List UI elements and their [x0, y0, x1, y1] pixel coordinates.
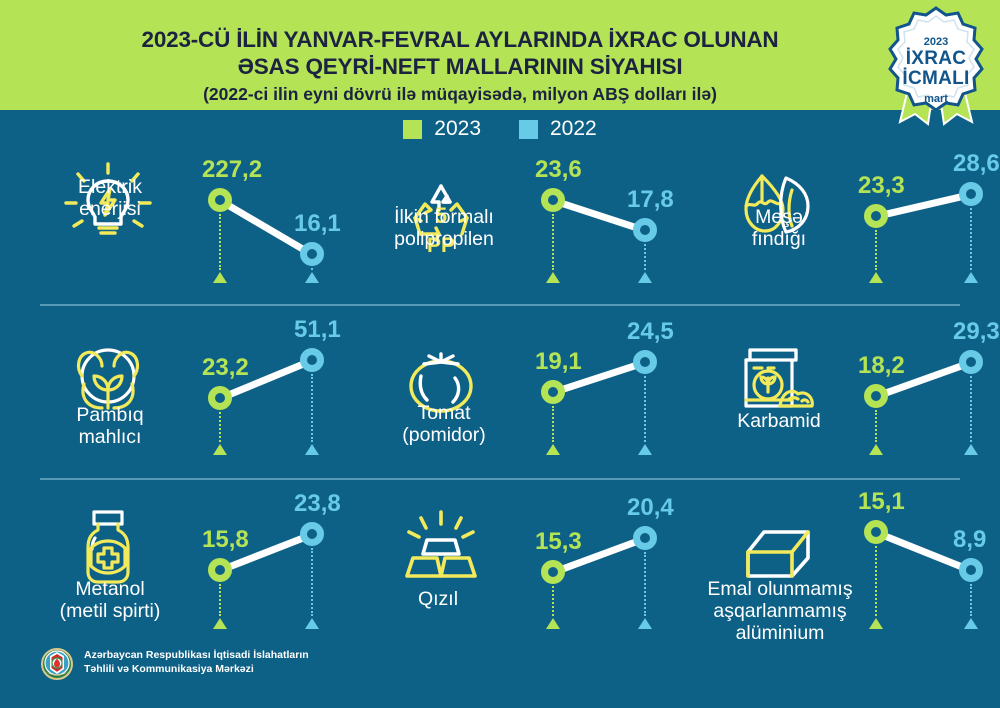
drop-line — [644, 376, 646, 442]
commodity-row: Pambıqmahlıcı23,251,1 Tomat(pomidor)19,1… — [0, 304, 1000, 478]
value-label-2022: 8,9 — [953, 526, 986, 554]
chart-legend: 2023 2022 — [0, 113, 1000, 145]
value-label-2023: 23,3 — [858, 172, 905, 200]
data-point-2023[interactable] — [541, 380, 565, 404]
axis-marker-triangle — [869, 272, 883, 283]
commodity-card[interactable]: Emal olunmamışaşqarlanmamışalüminium15,1… — [666, 478, 999, 664]
value-plot: 23,328,6 — [816, 146, 1000, 296]
drop-line — [311, 268, 313, 270]
data-point-2023[interactable] — [208, 558, 232, 582]
value-label-2022: 28,6 — [953, 150, 1000, 178]
drop-line — [311, 374, 313, 442]
value-plot: 19,124,5 — [483, 304, 673, 454]
data-point-2023[interactable] — [541, 188, 565, 212]
drop-line — [311, 548, 313, 616]
commodity-card[interactable]: Tomat(pomidor)19,124,5 — [333, 304, 666, 478]
title-line-2: ƏSAS QEYRİ-NEFT MALLARININ SİYAHISI — [60, 53, 860, 80]
azerbaijan-state-emblem-icon — [40, 647, 74, 681]
axis-marker-triangle — [305, 618, 319, 629]
axis-marker-triangle — [213, 272, 227, 283]
data-point-2022[interactable] — [300, 522, 324, 546]
data-point-2022[interactable] — [300, 242, 324, 266]
drop-line — [970, 376, 972, 442]
axis-marker-triangle — [546, 444, 560, 455]
commodity-card[interactable]: Qızıl15,320,4 — [333, 478, 666, 664]
drop-line — [875, 230, 877, 270]
axis-marker-triangle — [638, 272, 652, 283]
data-point-2022[interactable] — [959, 558, 983, 582]
commodity-card[interactable]: Meşəfındığı23,328,6 — [666, 146, 999, 304]
drop-line — [552, 586, 554, 616]
drop-line — [970, 208, 972, 270]
organization-name-line-1: Azərbaycan Respublikası İqtisadi İslahat… — [84, 648, 309, 662]
value-plot: 23,617,8 — [483, 146, 673, 296]
data-point-2023[interactable] — [864, 204, 888, 228]
axis-marker-triangle — [638, 444, 652, 455]
drop-line — [644, 244, 646, 270]
value-label-2023: 15,3 — [535, 528, 582, 556]
legend-item-2023: 2023 — [403, 117, 481, 141]
data-point-2023[interactable] — [208, 386, 232, 410]
value-plot: 18,229,3 — [816, 304, 1000, 454]
drop-line — [552, 406, 554, 442]
page-title: 2023-CÜ İLİN YANVAR-FEVRAL AYLARINDA İXR… — [60, 26, 860, 107]
axis-marker-triangle — [964, 618, 978, 629]
commodity-row: Elektrikenerjisi227,216,1 5 PP İlkin for… — [0, 146, 1000, 304]
drop-line — [552, 214, 554, 270]
badge-year: 2023 — [884, 36, 988, 48]
organization-name: Azərbaycan Respublikası İqtisadi İslahat… — [84, 648, 309, 676]
value-label-2023: 23,6 — [535, 156, 582, 184]
data-point-2023[interactable] — [864, 384, 888, 408]
badge-line-1: İXRAC — [884, 48, 988, 70]
drop-line — [970, 584, 972, 616]
value-plot: 15,823,8 — [150, 478, 340, 628]
commodity-row: Metanol(metil spirti)15,823,8 Qızıl15,32… — [0, 478, 1000, 664]
data-point-2022[interactable] — [959, 182, 983, 206]
ixrac-icmali-badge: 2023 İXRAC İCMALI mart — [884, 6, 988, 128]
badge-month: mart — [884, 93, 988, 105]
axis-marker-triangle — [638, 618, 652, 629]
data-point-2023[interactable] — [208, 188, 232, 212]
axis-marker-triangle — [305, 272, 319, 283]
value-plot: 15,320,4 — [483, 478, 673, 628]
axis-marker-triangle — [869, 444, 883, 455]
data-point-2023[interactable] — [541, 560, 565, 584]
data-point-2022[interactable] — [300, 348, 324, 372]
legend-swatch-green-icon — [403, 120, 422, 139]
value-label-2023: 19,1 — [535, 348, 582, 376]
data-point-2023[interactable] — [864, 520, 888, 544]
value-label-2023: 23,2 — [202, 354, 249, 382]
commodity-card[interactable]: Elektrikenerjisi227,216,1 — [0, 146, 333, 304]
organization-name-line-2: Təhlili və Kommunikasiya Mərkəzi — [84, 662, 309, 676]
legend-label-2022: 2022 — [550, 117, 597, 141]
drop-line — [219, 214, 221, 270]
value-label-2023: 15,8 — [202, 526, 249, 554]
value-label-2023: 18,2 — [858, 352, 905, 380]
value-label-2022: 29,3 — [953, 318, 1000, 346]
legend-swatch-blue-icon — [519, 120, 538, 139]
axis-marker-triangle — [964, 272, 978, 283]
value-plot: 227,216,1 — [150, 146, 340, 296]
drop-line — [875, 546, 877, 616]
commodity-grid: Elektrikenerjisi227,216,1 5 PP İlkin for… — [0, 146, 1000, 666]
drop-line — [644, 552, 646, 616]
data-point-2022[interactable] — [959, 350, 983, 374]
data-point-2022[interactable] — [633, 350, 657, 374]
badge-line-2: İCMALI — [884, 68, 988, 90]
header-banner: 2023-CÜ İLİN YANVAR-FEVRAL AYLARINDA İXR… — [0, 0, 1000, 110]
legend-label-2023: 2023 — [434, 117, 481, 141]
organization-footer: Azərbaycan Respublikası İqtisadi İslahat… — [40, 645, 460, 689]
axis-marker-triangle — [213, 618, 227, 629]
commodity-card[interactable]: Pambıqmahlıcı23,251,1 — [0, 304, 333, 478]
value-label-2023: 15,1 — [858, 488, 905, 516]
axis-marker-triangle — [213, 444, 227, 455]
commodity-card[interactable]: Metanol(metil spirti)15,823,8 — [0, 478, 333, 664]
title-subtitle: (2022-ci ilin eyni dövrü ilə müqayisədə,… — [60, 82, 860, 107]
commodity-card[interactable]: 5 PP İlkin formalıpolipropilen23,617,8 — [333, 146, 666, 304]
data-point-2022[interactable] — [633, 218, 657, 242]
axis-marker-triangle — [546, 618, 560, 629]
value-plot: 15,18,9 — [816, 478, 1000, 628]
drop-line — [875, 410, 877, 442]
axis-marker-triangle — [869, 618, 883, 629]
drop-line — [219, 412, 221, 442]
value-label-2023: 227,2 — [202, 156, 262, 184]
axis-marker-triangle — [964, 444, 978, 455]
axis-marker-triangle — [305, 444, 319, 455]
legend-item-2022: 2022 — [519, 117, 597, 141]
commodity-card[interactable]: Karbamid18,229,3 — [666, 304, 999, 478]
data-point-2022[interactable] — [633, 526, 657, 550]
title-line-1: 2023-CÜ İLİN YANVAR-FEVRAL AYLARINDA İXR… — [60, 26, 860, 53]
value-plot: 23,251,1 — [150, 304, 340, 454]
axis-marker-triangle — [546, 272, 560, 283]
drop-line — [219, 584, 221, 616]
